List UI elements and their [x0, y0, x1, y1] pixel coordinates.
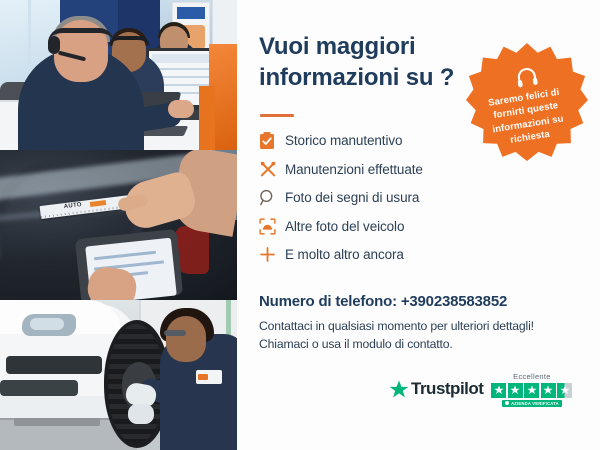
tools-cross-icon: [259, 159, 285, 179]
orange-panel-right-2: [199, 86, 215, 150]
feature-item-molto-altro[interactable]: E molto altro ancora: [259, 242, 509, 267]
feature-item-foto-segni-usura[interactable]: Foto dei segni di usura: [259, 185, 509, 210]
mechanic-head: [166, 316, 206, 362]
magnifier-icon: [259, 188, 285, 208]
star-filled: [508, 383, 523, 398]
photo-column: [0, 0, 237, 450]
car-grille: [6, 356, 102, 374]
verified-label: AZIENDA VERIFICATA: [511, 401, 559, 406]
trustpilot-stars: [491, 383, 572, 398]
mechanic-uniform-badge: [196, 370, 222, 384]
plus-icon: [259, 245, 285, 265]
headset-icon: [512, 64, 541, 92]
content-panel: Vuoi maggiori informazioni su ? Saremo f…: [237, 0, 600, 450]
mechanic-safety-glasses: [164, 330, 186, 336]
page-title: Vuoi maggiori informazioni su ?: [259, 32, 469, 93]
car-headlight: [22, 314, 76, 336]
feature-label: E molto altro ancora: [285, 247, 404, 262]
title-underline-rule: [260, 114, 294, 117]
trustpilot-star-icon: [389, 380, 409, 399]
photo-call-centre: [0, 0, 237, 150]
trustpilot-rating-block: Eccellente: [491, 372, 572, 407]
contact-subtext-line-2: Chiamaci o usa il modulo di contatto.: [259, 337, 453, 351]
feature-label: Manutenzioni effettuate: [285, 162, 423, 177]
feature-label: Foto dei segni di usura: [285, 190, 419, 205]
car-scan-icon: [259, 216, 285, 236]
worker-1-hand: [168, 100, 194, 118]
contact-subtext-line-1: Contattaci in qualsiasi momento per ulte…: [259, 319, 534, 333]
feature-label: Altre foto del veicolo: [285, 219, 404, 234]
star-filled: [524, 383, 539, 398]
feature-list: Storico manutentivo Manutenzioni effettu…: [259, 128, 509, 271]
feature-item-altre-foto-veicolo[interactable]: Altre foto del veicolo: [259, 214, 509, 239]
trustpilot-widget[interactable]: Trustpilot Eccellente: [389, 372, 572, 407]
clipboard-check-icon: [259, 131, 285, 151]
trustpilot-rating-label: Eccellente: [513, 372, 551, 381]
car-lower-grille: [0, 380, 78, 396]
phone-number-line[interactable]: Numero di telefono: +390238583852: [259, 293, 507, 310]
worker-2-headset-icon: [108, 36, 150, 48]
star-filled: [541, 383, 556, 398]
car-bumper: [0, 396, 116, 418]
trustpilot-verified-badge: AZIENDA VERIFICATA: [502, 400, 562, 407]
feature-item-manutenzioni-effettuate[interactable]: Manutenzioni effettuate: [259, 157, 509, 182]
feature-label: Storico manutentivo: [285, 133, 402, 148]
trustpilot-brand-name: Trustpilot: [411, 379, 483, 399]
photo-tyre-check: [0, 300, 237, 450]
feature-item-storico-manutentivo[interactable]: Storico manutentivo: [259, 128, 509, 153]
star-filled: [491, 383, 506, 398]
star-half: [557, 383, 572, 398]
trustpilot-logo: Trustpilot: [389, 379, 483, 399]
verified-dot-icon: [505, 401, 509, 405]
photo-paint-check: [0, 150, 237, 300]
mechanic-glove-2: [128, 404, 154, 424]
promo-poster: Vuoi maggiori informazioni su ? Saremo f…: [0, 0, 600, 450]
